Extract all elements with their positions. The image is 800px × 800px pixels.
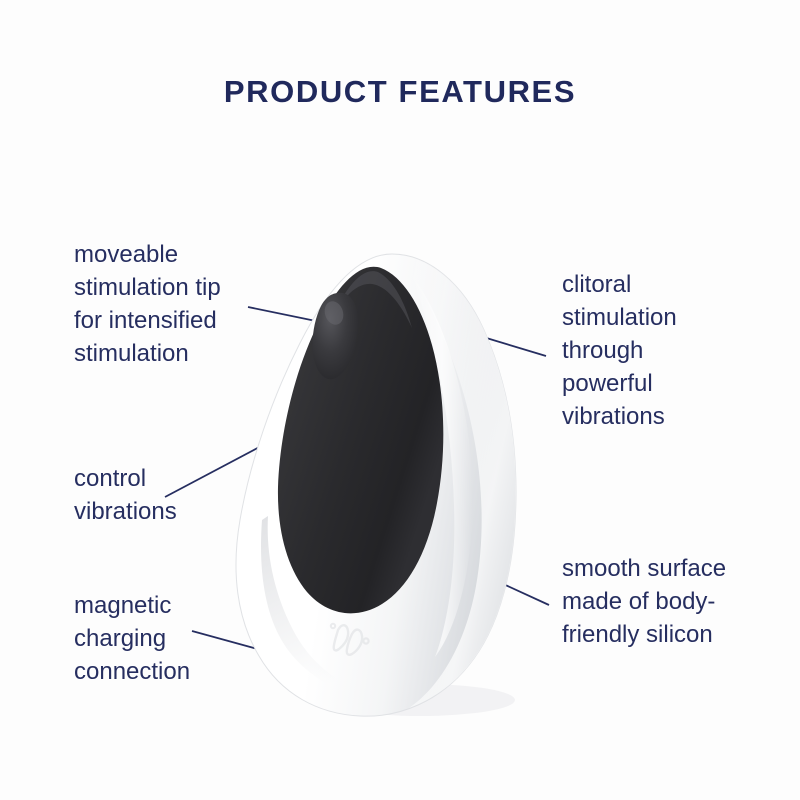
callout-clitoral-stimulation: clitoral stimulation through powerful vi… [562, 268, 762, 433]
callout-moveable-stimulation-tip: moveable stimulation tip for intensified… [74, 238, 284, 370]
callout-smooth-surface: smooth surface made of body- friendly si… [562, 552, 777, 651]
product-features-infographic: PRODUCT FEATURES [0, 0, 800, 800]
callout-control-vibrations: control vibrations [74, 462, 274, 528]
callout-magnetic-charging-connection: magnetic charging connection [74, 589, 284, 688]
